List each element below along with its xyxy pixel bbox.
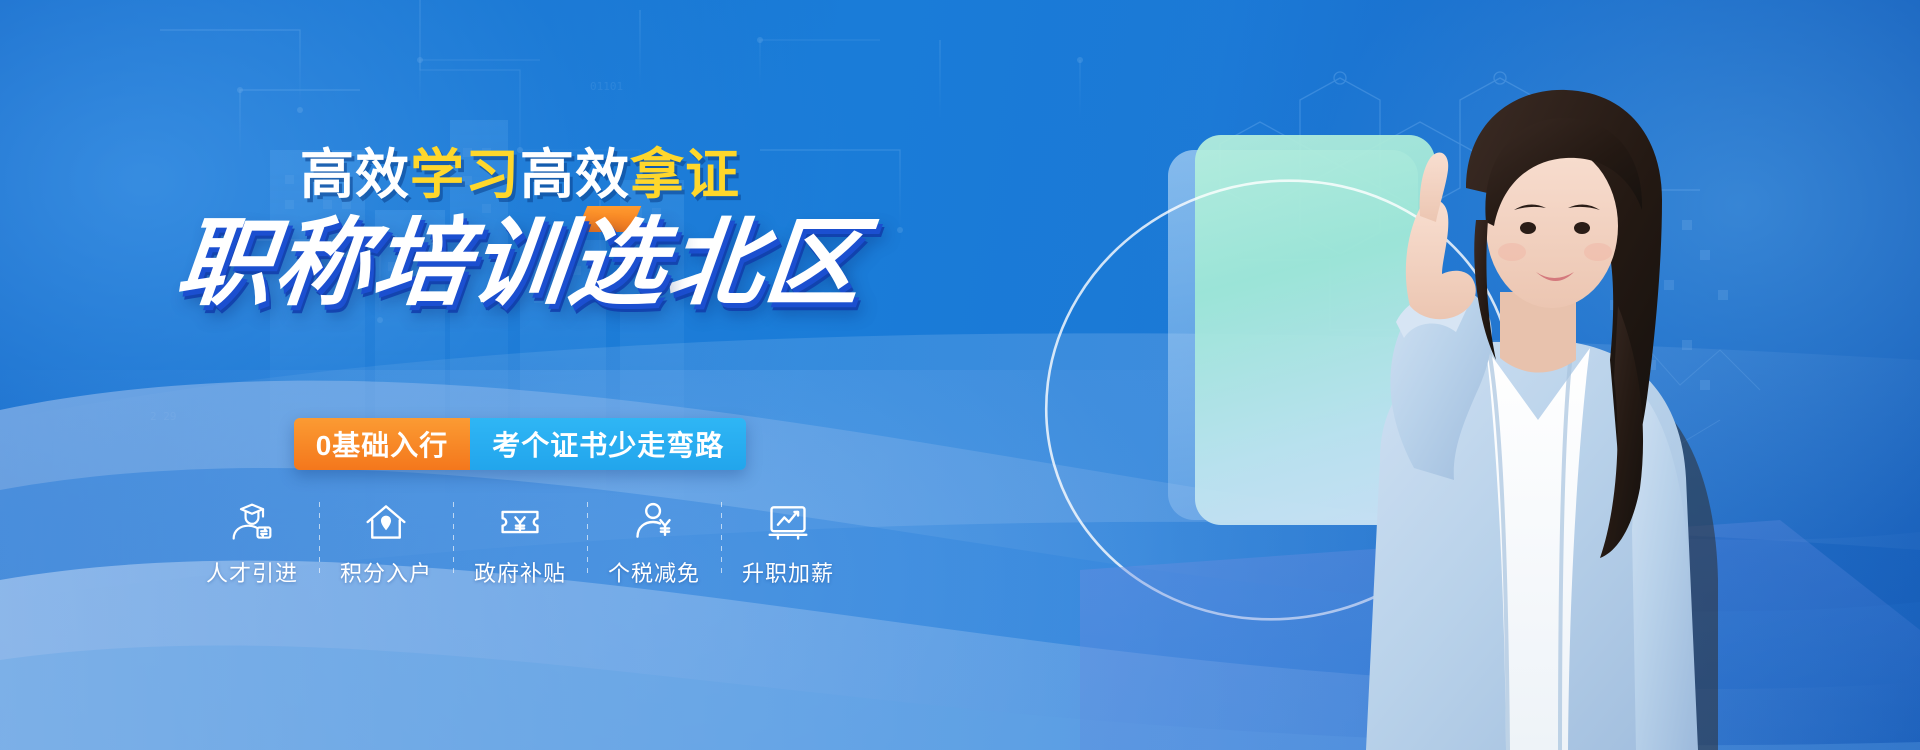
headline-group: 高效学习高效拿证 职称培训选北区 xyxy=(0,148,1040,316)
main-headline: 职称培训选北区 xyxy=(0,212,1045,316)
tagline-badge-row: 0基础入行 考个证书少走弯路 xyxy=(0,418,1040,470)
tagline-badge[interactable]: 0基础入行 考个证书少走弯路 xyxy=(294,418,747,470)
main-headline-accent: 选 xyxy=(564,212,673,316)
feature-item-government-subsidy[interactable]: 政府补贴 xyxy=(454,500,587,588)
sub-headline-part-4: 拿证 xyxy=(630,145,740,205)
main-headline-prefix: 职称培训 xyxy=(171,210,574,317)
badge-right-label: 考个证书少走弯路 xyxy=(470,418,746,470)
badge-left-label: 0基础入行 xyxy=(294,418,471,470)
feature-item-promotion-raise[interactable]: 升职加薪 xyxy=(722,500,855,588)
feature-label: 人才引进 xyxy=(206,556,298,588)
feature-label: 政府补贴 xyxy=(474,556,566,588)
hero-visual xyxy=(1040,0,1920,750)
sub-headline: 高效学习高效拿证 xyxy=(0,148,1040,202)
feature-item-tax-reduction[interactable]: 个税减免 xyxy=(588,500,721,588)
feature-item-talent-import[interactable]: 人才引进 xyxy=(186,500,319,588)
feature-label: 升职加薪 xyxy=(742,556,834,588)
growth-chart-icon xyxy=(766,500,810,544)
sub-headline-part-1: 高效 xyxy=(300,145,410,205)
main-headline-suffix: 北区 xyxy=(661,210,868,317)
promo-banner: 2 29 01101 1001 xyxy=(0,0,1920,750)
coupon-yuan-icon xyxy=(498,500,542,544)
feature-list: 人才引进 积分入户 xyxy=(0,500,1040,588)
person-yuan-icon xyxy=(632,500,676,544)
house-pin-icon xyxy=(364,500,408,544)
sub-headline-part-2: 学习 xyxy=(410,145,520,205)
feature-label: 积分入户 xyxy=(340,556,432,588)
sub-headline-part-3: 高效 xyxy=(520,145,630,205)
feature-item-points-residency[interactable]: 积分入户 xyxy=(320,500,453,588)
businesswoman-illustration xyxy=(1170,60,1790,750)
feature-label: 个税减免 xyxy=(608,556,700,588)
banner-content: 高效学习高效拿证 职称培训选北区 0基础入行 考个证书少走弯路 xyxy=(0,0,1040,750)
graduate-person-icon xyxy=(230,500,274,544)
